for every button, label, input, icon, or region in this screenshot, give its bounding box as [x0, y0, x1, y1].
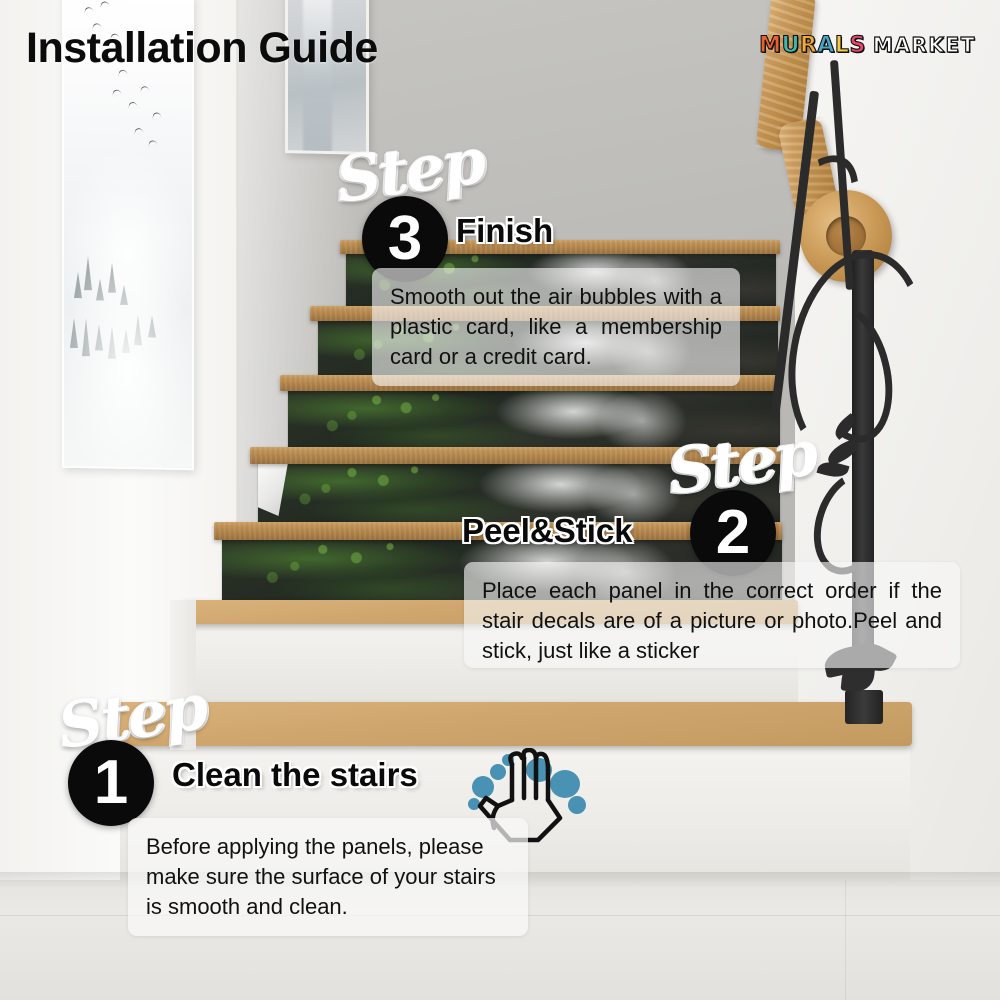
stair-tread-bottom [112, 702, 912, 746]
step-1-body: Before applying the panels, please make … [128, 818, 528, 936]
step-3-body: Smooth out the air bubbles with a plasti… [372, 268, 740, 386]
logo-letter: M [759, 33, 781, 58]
step-1-number: 1 [68, 740, 154, 826]
step-2-title: Peel&Stick [462, 512, 633, 550]
brand-logo: M U R A L S MARKET [759, 33, 976, 58]
step-3-title: Finish [456, 212, 553, 250]
floor-grout-line [845, 880, 846, 1000]
installation-guide-graphic: Installation Guide M U R A L S MARKET St… [0, 0, 1000, 1000]
logo-letter: L [835, 33, 850, 58]
step-2-body: Place each panel in the correct order if… [464, 562, 960, 668]
newel-base [845, 690, 883, 724]
brand-logo-market: MARKET [873, 33, 976, 57]
step-1-title: Clean the stairs [172, 756, 418, 794]
logo-letter: R [800, 33, 817, 58]
logo-letter: S [849, 33, 865, 58]
brand-logo-murals: M U R A L S [759, 33, 866, 58]
logo-letter: A [817, 33, 835, 58]
page-title: Installation Guide [26, 24, 378, 73]
logo-letter: U [782, 33, 800, 58]
